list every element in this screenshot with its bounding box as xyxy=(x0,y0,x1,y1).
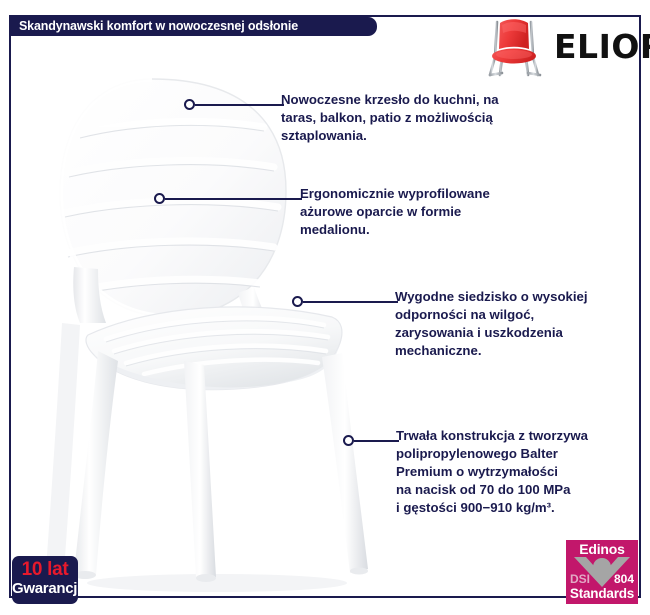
leader-line xyxy=(303,301,398,303)
callout-2-text: Ergonomicznie wyprofilowane ażurowe opar… xyxy=(300,185,575,239)
certification-standards-label: Standards xyxy=(566,586,638,601)
callout-1-text: Nowoczesne krzesło do kuchni, na taras, … xyxy=(281,91,556,145)
certification-badge: Edinos DSI 804 Standards xyxy=(566,540,638,604)
leader-line xyxy=(195,104,284,106)
certification-code-number: 804 xyxy=(614,573,634,586)
callout-4-text: Trwała konstrukcja z tworzywa polipropyl… xyxy=(396,427,646,517)
circle-marker xyxy=(343,435,354,446)
brand-name: ELIOR xyxy=(554,30,650,63)
callout-3-text: Wygodne siedzisko o wysokiej odporności … xyxy=(395,288,645,360)
circle-marker xyxy=(154,193,165,204)
circle-marker xyxy=(184,99,195,110)
certification-code-prefix: DSI xyxy=(570,573,590,586)
infographic-canvas: Skandynawski komfort w nowoczesnej odsło… xyxy=(0,0,650,615)
red-chair-icon xyxy=(482,13,546,79)
warranty-label: Gwarancji xyxy=(12,580,78,597)
circle-marker xyxy=(292,296,303,307)
page-title: Skandynawski komfort w nowoczesnej odsło… xyxy=(11,20,298,33)
leader-line xyxy=(165,198,302,200)
leader-line xyxy=(354,440,399,442)
warranty-years: 10 lat xyxy=(12,559,78,580)
header-banner: Skandynawski komfort w nowoczesnej odsło… xyxy=(11,17,377,36)
warranty-badge: 10 lat Gwarancji xyxy=(12,556,78,604)
brand-logo: ELIOR xyxy=(482,13,642,79)
